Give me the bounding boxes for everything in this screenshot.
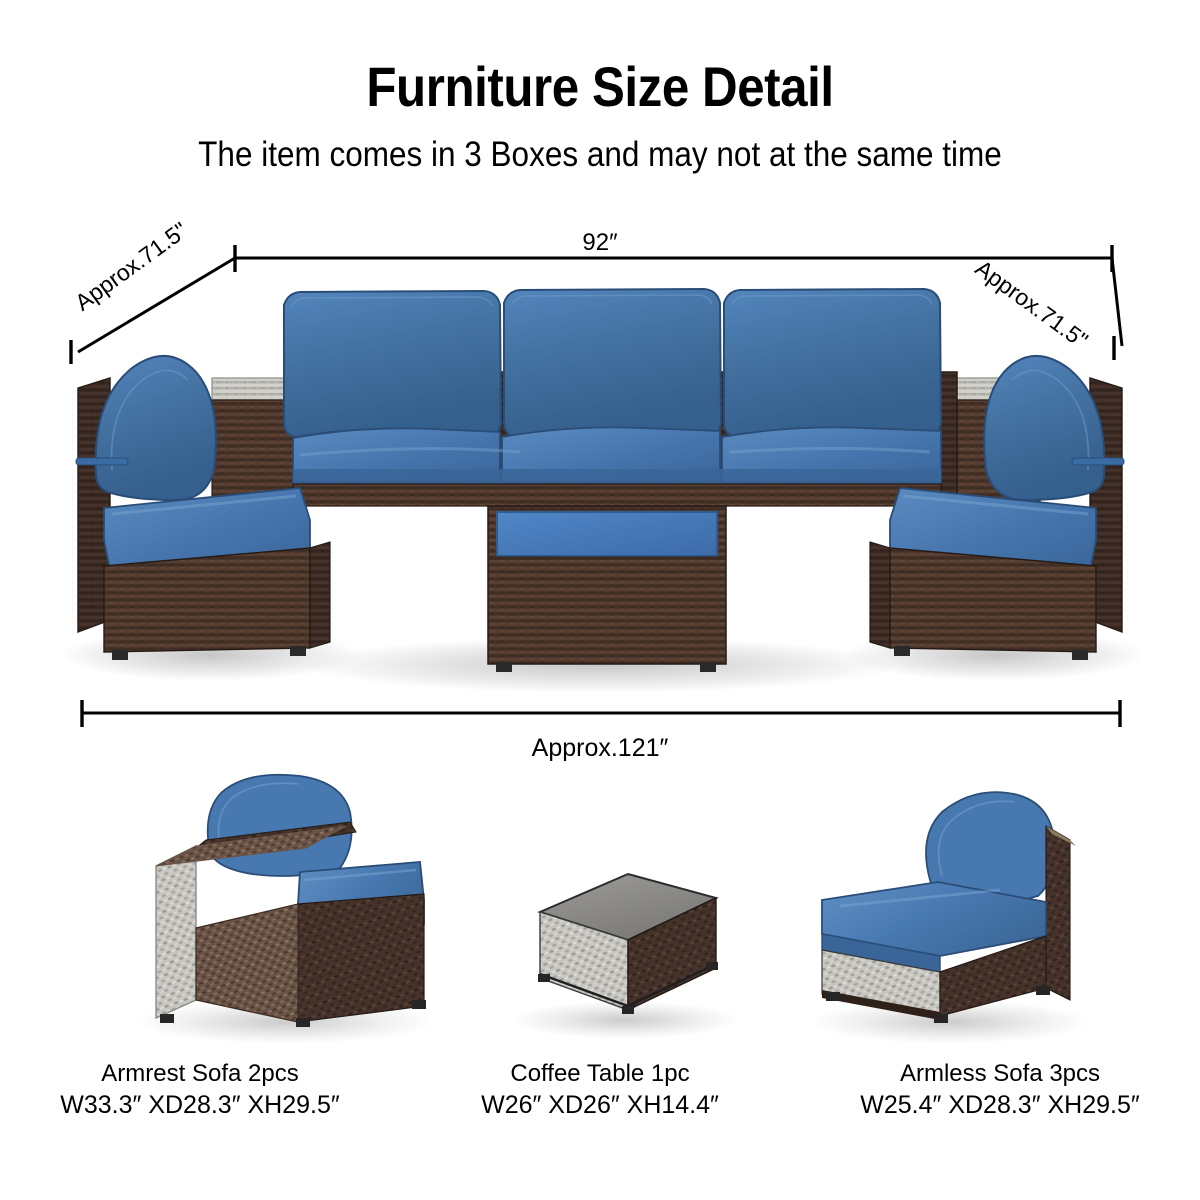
- coffee-table-icon: [538, 874, 718, 1014]
- caption-dimensions: W33.3″ XD28.3″ XH29.5″: [0, 1089, 400, 1122]
- armless-sofa-icon: [822, 792, 1076, 1023]
- caption-armless-sofa: Armless Sofa 3pcs W25.4″ XD28.3″ XH29.5″: [800, 1058, 1200, 1122]
- caption-dimensions: W25.4″ XD28.3″ XH29.5″: [800, 1089, 1200, 1122]
- caption-title: Armrest Sofa 2pcs: [0, 1058, 400, 1089]
- caption-title: Armless Sofa 3pcs: [800, 1058, 1200, 1089]
- dimension-label-overall-width: Approx.121″: [0, 734, 1200, 763]
- armrest-sofa-icon: [156, 775, 426, 1027]
- caption-dimensions: W26″ XD26″ XH14.4″: [400, 1089, 800, 1122]
- individual-pieces-illustration: [0, 0, 1200, 1200]
- caption-armrest-sofa: Armrest Sofa 2pcs W33.3″ XD28.3″ XH29.5″: [0, 1058, 400, 1122]
- caption-title: Coffee Table 1pc: [400, 1058, 800, 1089]
- caption-coffee-table: Coffee Table 1pc W26″ XD26″ XH14.4″: [400, 1058, 800, 1122]
- infographic-page: Furniture Size Detail The item comes in …: [0, 0, 1200, 1200]
- piece-captions: Armrest Sofa 2pcs W33.3″ XD28.3″ XH29.5″…: [0, 1058, 1200, 1122]
